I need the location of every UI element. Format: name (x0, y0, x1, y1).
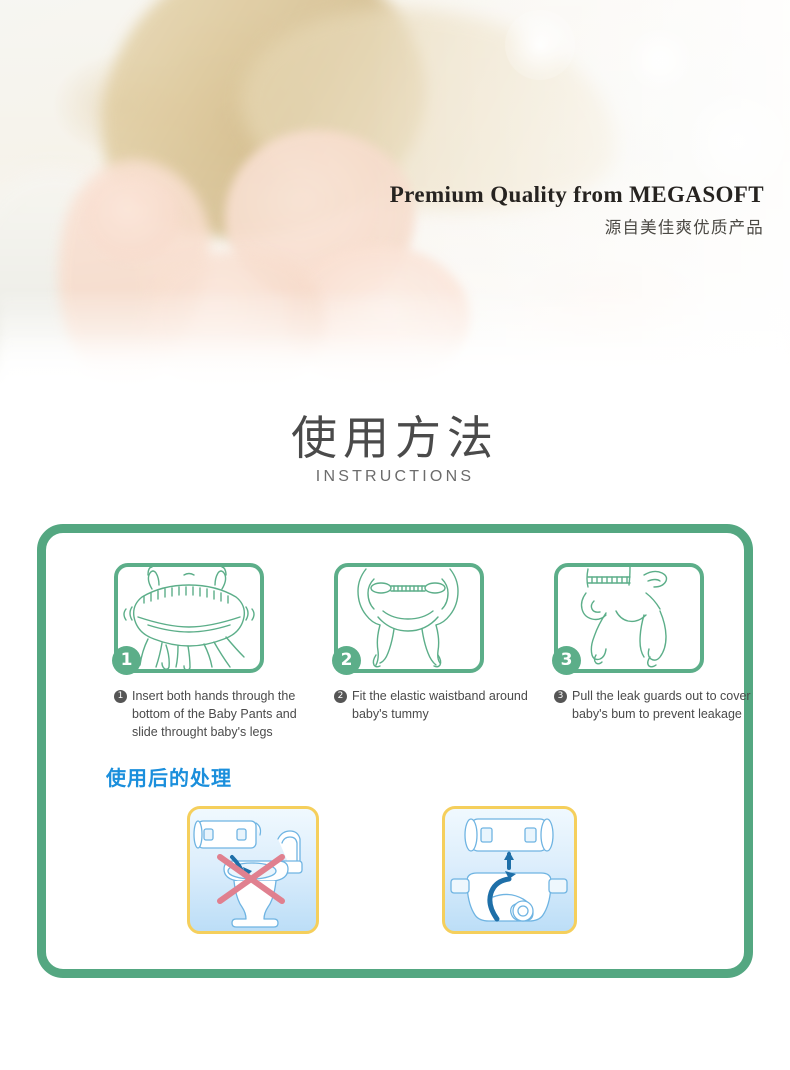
step-3: 3 3 Pull the leak guards out to cover ba… (554, 563, 734, 741)
step-3-badge: 3 (552, 646, 581, 675)
step-1-illustration: 1 (114, 563, 264, 673)
step-3-caption: 3 Pull the leak guards out to cover baby… (554, 688, 764, 724)
disposal-card-no-flush (187, 806, 319, 934)
step-1-badge: 1 (112, 646, 141, 675)
step-1-caption: 1 Insert both hands through the bottom o… (114, 688, 324, 741)
step-1: 1 1 Insert both hands through the bottom… (114, 563, 294, 741)
step-2: 2 2 Fit the elastic waistband around bab… (334, 563, 514, 741)
disposal-heading: 使用后的处理 (106, 762, 232, 791)
step-3-caption-number: 3 (554, 690, 567, 703)
step-1-caption-number: 1 (114, 690, 127, 703)
tagline-english: Premium Quality from MEGASOFT (390, 182, 764, 208)
step-2-illustration: 2 (334, 563, 484, 673)
step-2-caption-number: 2 (334, 690, 347, 703)
step-2-caption: 2 Fit the elastic waistband around baby'… (334, 688, 544, 724)
instructions-heading: 使用方法 INSTRUCTIONS (0, 414, 790, 486)
step-2-caption-text: Fit the elastic waistband around baby's … (352, 688, 544, 724)
step-1-caption-text: Insert both hands through the bottom of … (132, 688, 324, 741)
steps-row: 1 1 Insert both hands through the bottom… (114, 563, 734, 741)
step-2-badge: 2 (332, 646, 361, 675)
hero-bottom-fade (0, 333, 790, 393)
baby-hand (85, 175, 180, 260)
step-3-illustration: 3 (554, 563, 704, 673)
heading-chinese: 使用方法 (0, 414, 790, 464)
step-3-caption-text: Pull the leak guards out to cover baby's… (572, 688, 764, 724)
tagline-chinese: 源自美佳爽优质产品 (390, 214, 764, 238)
disposal-cards (187, 806, 617, 934)
heading-english: INSTRUCTIONS (0, 468, 790, 486)
instructions-panel: 1 1 Insert both hands through the bottom… (37, 524, 753, 978)
disposal-card-roll-up (442, 806, 577, 934)
hero-tagline: Premium Quality from MEGASOFT 源自美佳爽优质产品 (390, 182, 764, 238)
hero-banner: Premium Quality from MEGASOFT 源自美佳爽优质产品 (0, 0, 790, 393)
